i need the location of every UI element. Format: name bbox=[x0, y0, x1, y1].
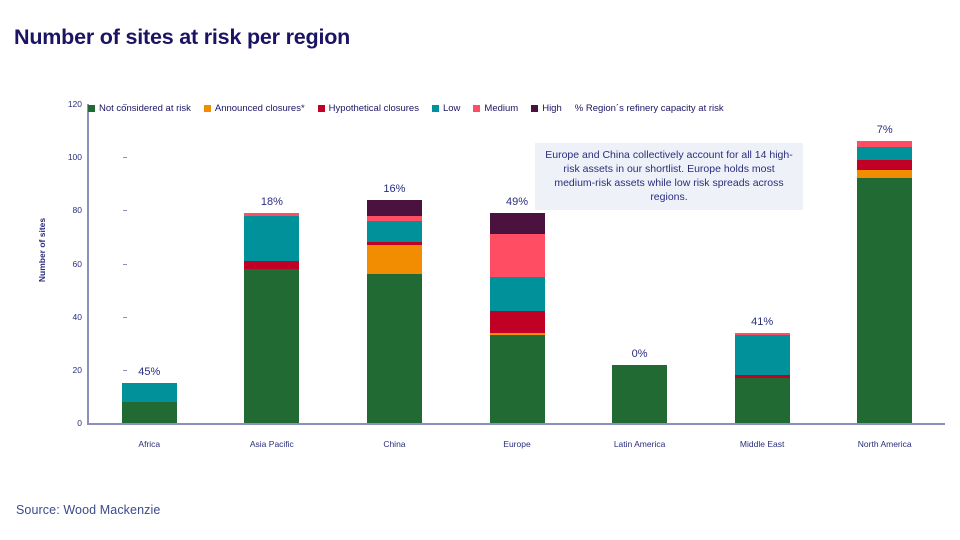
x-axis-category-label: North America bbox=[858, 439, 912, 449]
legend-item[interactable]: Medium bbox=[473, 103, 518, 114]
bar-segment[interactable] bbox=[367, 200, 422, 216]
bar-segment[interactable] bbox=[367, 274, 422, 423]
bar-segment[interactable] bbox=[367, 245, 422, 274]
legend-item-label: Not considered at risk bbox=[99, 103, 191, 114]
source-note: Source: Wood Mackenzie bbox=[16, 503, 160, 517]
x-axis-category-label: Africa bbox=[138, 439, 160, 449]
chart-container: 020406080100120 Number of sites 45%Afric… bbox=[0, 95, 960, 455]
x-axis-category-label: Latin America bbox=[614, 439, 666, 449]
bar-percent-label: 18% bbox=[261, 196, 283, 208]
x-axis-category-label: Middle East bbox=[740, 439, 784, 449]
bar-percent-label: 16% bbox=[383, 183, 405, 195]
bar-segment[interactable] bbox=[490, 277, 545, 312]
y-axis-title: Number of sites bbox=[37, 190, 47, 310]
bar-stack[interactable] bbox=[367, 200, 422, 423]
legend-item-label: High bbox=[542, 103, 562, 114]
legend-swatch-icon bbox=[318, 105, 325, 112]
legend-item[interactable]: Hypothetical closures bbox=[318, 103, 419, 114]
bar-stack[interactable] bbox=[490, 213, 545, 423]
legend-item-label: Hypothetical closures bbox=[329, 103, 419, 114]
y-axis-tick-label: 120 bbox=[68, 99, 82, 109]
bar-segment[interactable] bbox=[857, 178, 912, 423]
bar-stack[interactable] bbox=[612, 365, 667, 423]
legend-item-label: Low bbox=[443, 103, 460, 114]
x-axis-category-label: Europe bbox=[503, 439, 530, 449]
legend-item[interactable]: Announced closures* bbox=[204, 103, 305, 114]
plot-area: 45%Africa18%Asia Pacific16%China49%Europ… bbox=[88, 104, 946, 423]
bar-group[interactable]: 16%China bbox=[367, 104, 422, 423]
bar-group[interactable]: 18%Asia Pacific bbox=[244, 104, 299, 423]
annotation-callout: Europe and China collectively account fo… bbox=[535, 143, 803, 210]
bar-segment[interactable] bbox=[857, 160, 912, 171]
x-axis-category-label: China bbox=[383, 439, 405, 449]
chart-legend: Not considered at riskAnnounced closures… bbox=[88, 103, 724, 114]
bar-segment[interactable] bbox=[490, 213, 545, 234]
bar-stack[interactable] bbox=[244, 213, 299, 423]
bar-segment[interactable] bbox=[244, 269, 299, 423]
legend-swatch-icon bbox=[531, 105, 538, 112]
slide-canvas: Number of sites at risk per region 02040… bbox=[0, 0, 960, 540]
bar-segment[interactable] bbox=[122, 402, 177, 423]
legend-swatch-icon bbox=[88, 105, 95, 112]
bar-percent-label: 7% bbox=[877, 124, 893, 136]
legend-item[interactable]: Low bbox=[432, 103, 460, 114]
legend-swatch-icon bbox=[204, 105, 211, 112]
bar-segment[interactable] bbox=[244, 216, 299, 261]
bar-stack[interactable] bbox=[735, 333, 790, 423]
bar-segment[interactable] bbox=[367, 221, 422, 242]
bar-segment[interactable] bbox=[490, 335, 545, 423]
bar-group[interactable]: 45%Africa bbox=[122, 104, 177, 423]
bar-segment[interactable] bbox=[735, 378, 790, 423]
y-axis-tick-mark bbox=[123, 423, 127, 424]
bar-stack[interactable] bbox=[857, 141, 912, 423]
bar-segment[interactable] bbox=[490, 234, 545, 277]
y-axis-tick-label: 0 bbox=[77, 418, 82, 428]
bar-segment[interactable] bbox=[857, 170, 912, 178]
bar-percent-label: 49% bbox=[506, 196, 528, 208]
y-axis-tick-label: 60 bbox=[73, 259, 82, 269]
legend-swatch-icon bbox=[432, 105, 439, 112]
bar-segment[interactable] bbox=[122, 383, 177, 402]
bar-segment[interactable] bbox=[244, 261, 299, 269]
page-title: Number of sites at risk per region bbox=[14, 25, 350, 50]
y-axis-tick-label: 20 bbox=[73, 365, 82, 375]
bar-group[interactable]: 7%North America bbox=[857, 104, 912, 423]
bar-percent-label: 0% bbox=[632, 348, 648, 360]
x-axis-category-label: Asia Pacific bbox=[250, 439, 294, 449]
bar-percent-label: 41% bbox=[751, 316, 773, 328]
bar-segment[interactable] bbox=[490, 311, 545, 332]
legend-percent-note: % Region´s refinery capacity at risk bbox=[575, 103, 724, 114]
bar-segment[interactable] bbox=[735, 335, 790, 375]
bar-segment[interactable] bbox=[857, 147, 912, 160]
y-axis-tick-label: 80 bbox=[73, 205, 82, 215]
bar-segment[interactable] bbox=[612, 365, 667, 423]
legend-item[interactable]: High bbox=[531, 103, 562, 114]
legend-swatch-icon bbox=[473, 105, 480, 112]
legend-item-label: Medium bbox=[484, 103, 518, 114]
x-axis-line bbox=[87, 423, 945, 425]
bar-percent-label: 45% bbox=[138, 366, 160, 378]
legend-item-label: Announced closures* bbox=[215, 103, 305, 114]
y-axis-tick-label: 100 bbox=[68, 152, 82, 162]
bar-stack[interactable] bbox=[122, 383, 177, 423]
legend-item[interactable]: Not considered at risk bbox=[88, 103, 191, 114]
y-axis-tick-label: 40 bbox=[73, 312, 82, 322]
